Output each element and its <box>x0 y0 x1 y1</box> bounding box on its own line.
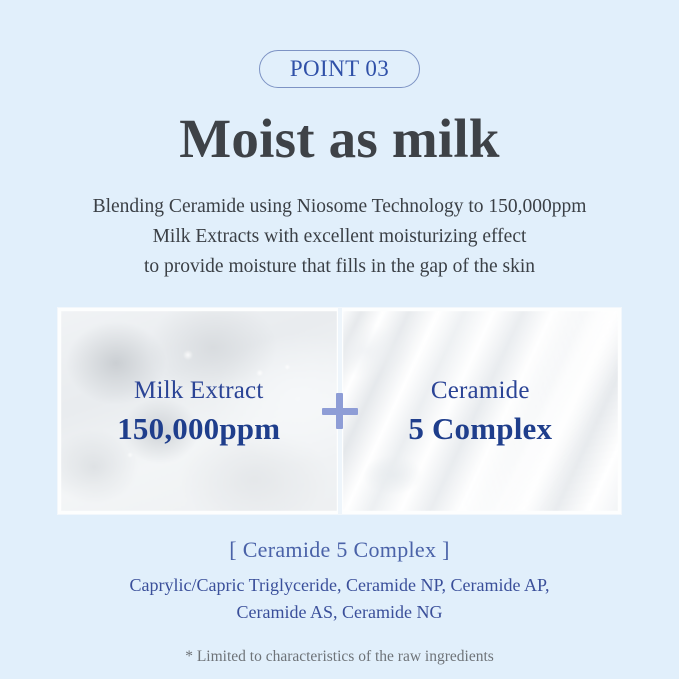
promo-page: POINT 03 Moist as milk Blending Ceramide… <box>0 0 679 679</box>
footnote: * Limited to characteristics of the raw … <box>185 648 494 666</box>
plus-icon <box>322 393 358 429</box>
panel-ceramide-title: Ceramide <box>408 375 552 406</box>
description-line-2: Milk Extracts with excellent moisturizin… <box>93 222 587 252</box>
ingredients-list: Caprylic/Capric Triglyceride, Ceramide N… <box>130 572 550 626</box>
ingredients-line-1: Caprylic/Capric Triglyceride, Ceramide N… <box>130 572 550 599</box>
description-line-3: to provide moisture that fills in the ga… <box>93 252 587 282</box>
panel-ceramide: Ceramide 5 Complex <box>340 308 622 514</box>
page-title: Moist as milk <box>179 110 499 168</box>
panel-milk-value: 150,000ppm <box>117 410 280 448</box>
ingredient-panels: Milk Extract 150,000ppm Ceramide 5 Compl… <box>58 308 621 514</box>
panel-ceramide-value: 5 Complex <box>408 410 552 448</box>
description-block: Blending Ceramide using Niosome Technolo… <box>93 192 587 283</box>
panel-milk-title: Milk Extract <box>117 375 280 406</box>
panel-ceramide-text: Ceramide 5 Complex <box>408 375 552 448</box>
complex-title: [ Ceramide 5 Complex ] <box>229 537 449 563</box>
panel-milk-text: Milk Extract 150,000ppm <box>117 375 280 448</box>
panel-milk-extract: Milk Extract 150,000ppm <box>58 308 340 514</box>
point-badge-label: POINT 03 <box>290 57 389 80</box>
point-badge: POINT 03 <box>259 50 420 88</box>
description-line-1: Blending Ceramide using Niosome Technolo… <box>93 192 587 222</box>
ingredients-line-2: Ceramide AS, Ceramide NG <box>130 599 550 626</box>
